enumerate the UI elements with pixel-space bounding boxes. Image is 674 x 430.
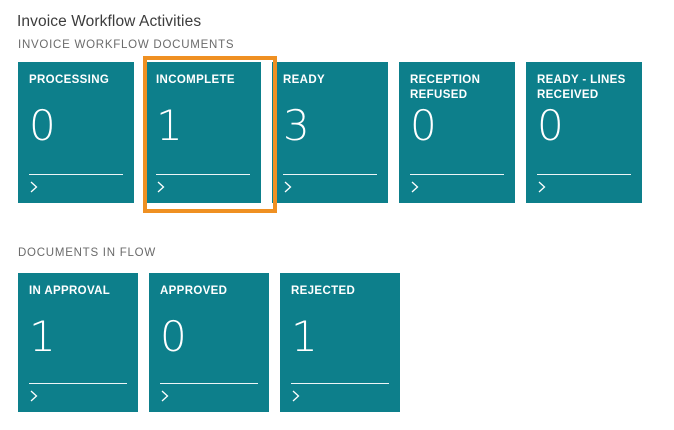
chevron-right-icon[interactable]: [537, 180, 548, 194]
tile-approved[interactable]: APPROVED 0: [149, 273, 269, 412]
tile-label: READY: [283, 73, 377, 102]
chevron-right-icon[interactable]: [291, 389, 302, 403]
chevron-right-icon[interactable]: [410, 180, 421, 194]
tile-divider: [29, 174, 123, 175]
tile-divider: [160, 383, 258, 384]
tile-divider: [156, 174, 250, 175]
tile-divider: [537, 174, 631, 175]
tile-divider: [283, 174, 377, 175]
tile-label: IN APPROVAL: [29, 284, 127, 313]
tile-label: APPROVED: [160, 284, 258, 313]
chevron-right-icon[interactable]: [29, 180, 40, 194]
tile-footer: [283, 174, 377, 203]
tile-row-invoice-workflow-documents: PROCESSING 0 INCOMPLETE 1 READY 3: [18, 62, 642, 203]
tile-value: 0: [29, 103, 123, 149]
chevron-right-icon[interactable]: [156, 180, 167, 194]
tile-label: READY - LINES RECEIVED: [537, 73, 631, 102]
tile-footer: [291, 383, 389, 412]
tile-in-approval[interactable]: IN APPROVAL 1: [18, 273, 138, 412]
tile-ready-lines-received[interactable]: READY - LINES RECEIVED 0: [526, 62, 642, 203]
chevron-right-icon[interactable]: [283, 180, 294, 194]
tile-value: 1: [156, 103, 250, 149]
chevron-right-icon[interactable]: [160, 389, 171, 403]
tile-rejected[interactable]: REJECTED 1: [280, 273, 400, 412]
tile-footer: [29, 174, 123, 203]
tile-value: 0: [537, 103, 631, 149]
tile-label: INCOMPLETE: [156, 73, 250, 102]
tile-ready[interactable]: READY 3: [272, 62, 388, 203]
section-heading-invoice-workflow-documents: INVOICE WORKFLOW DOCUMENTS: [18, 38, 234, 52]
tile-reception-refused[interactable]: RECEPTION REFUSED 0: [399, 62, 515, 203]
tile-footer: [410, 174, 504, 203]
tile-label: RECEPTION REFUSED: [410, 73, 504, 102]
tile-footer: [29, 383, 127, 412]
section-heading-documents-in-flow: DOCUMENTS IN FLOW: [18, 246, 156, 260]
tile-footer: [537, 174, 631, 203]
tile-divider: [410, 174, 504, 175]
tile-value: 0: [410, 103, 504, 149]
tile-value: 0: [160, 314, 258, 360]
tile-row-documents-in-flow: IN APPROVAL 1 APPROVED 0 REJECTED 1: [18, 273, 400, 412]
tile-value: 1: [29, 314, 127, 360]
tile-label: REJECTED: [291, 284, 389, 313]
dashboard-page: Invoice Workflow Activities INVOICE WORK…: [0, 0, 674, 430]
tile-incomplete[interactable]: INCOMPLETE 1: [145, 62, 261, 203]
tile-divider: [291, 383, 389, 384]
page-title: Invoice Workflow Activities: [17, 12, 201, 32]
tile-footer: [160, 383, 258, 412]
chevron-right-icon[interactable]: [29, 389, 40, 403]
tile-processing[interactable]: PROCESSING 0: [18, 62, 134, 203]
tile-divider: [29, 383, 127, 384]
tile-value: 3: [283, 103, 377, 149]
tile-label: PROCESSING: [29, 73, 123, 102]
tile-footer: [156, 174, 250, 203]
tile-value: 1: [291, 314, 389, 360]
